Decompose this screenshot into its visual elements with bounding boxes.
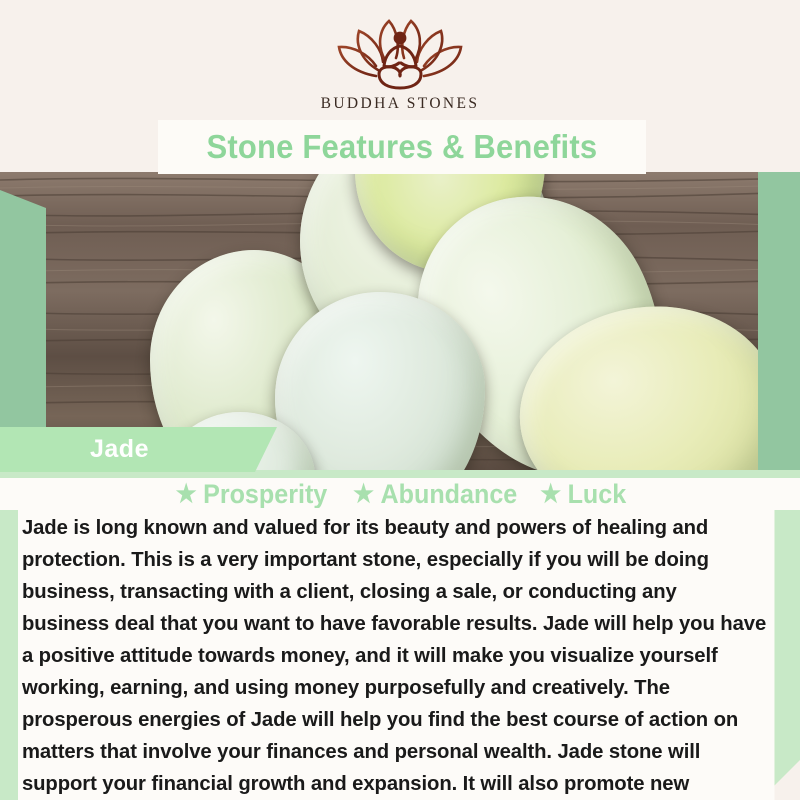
brand-name: BUDDHA STONES — [321, 95, 480, 113]
benefit-label: Luck — [568, 479, 627, 510]
benefit-label: Prosperity — [203, 479, 327, 510]
stone-name-label: Jade — [90, 435, 149, 464]
star-icon: ★ — [353, 482, 374, 507]
lotus-meditation-icon — [335, 16, 465, 90]
jade-stones-photo — [0, 172, 800, 470]
stone-info-poster: BUDDHA STONES Stone Features & Benefits … — [0, 0, 800, 800]
benefit-item: ★ Prosperity — [176, 479, 328, 510]
star-icon: ★ — [541, 482, 562, 507]
benefit-item: ★ Abundance — [353, 479, 517, 510]
stone-name-banner: Jade — [0, 427, 255, 472]
title-banner: Stone Features & Benefits — [158, 120, 646, 174]
page-title: Stone Features & Benefits — [207, 128, 598, 166]
benefit-label: Abundance — [381, 479, 518, 510]
right-green-accent — [758, 150, 800, 470]
benefit-item: ★ Luck — [541, 479, 627, 510]
benefits-row: ★ Prosperity ★ Abundance ★ Luck — [0, 478, 800, 510]
star-icon: ★ — [176, 482, 197, 507]
stone-description: Jade is long known and valued for its be… — [18, 508, 774, 800]
